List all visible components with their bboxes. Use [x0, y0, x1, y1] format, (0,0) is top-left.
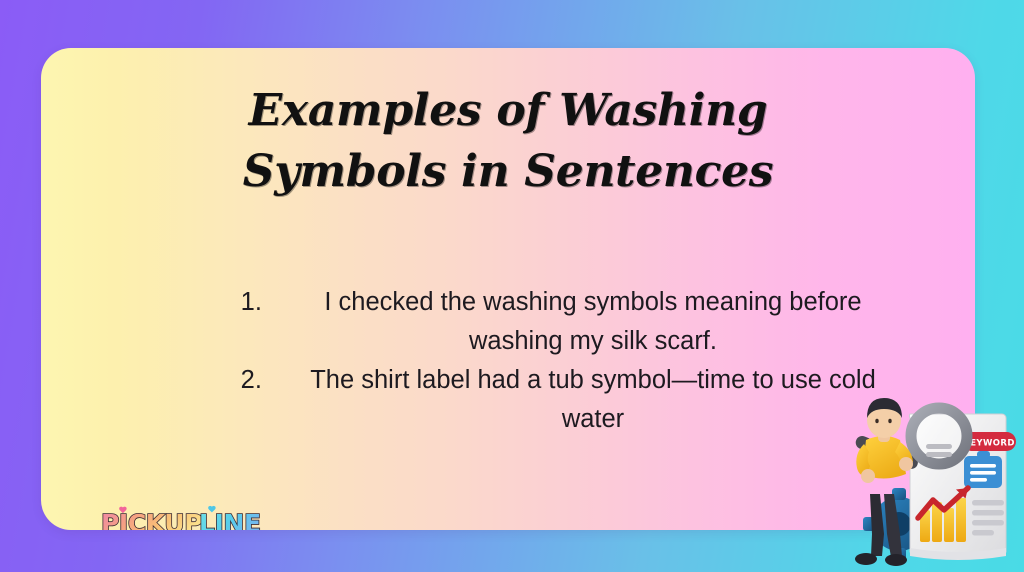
keyword-research-illustration: KEYWORD [840, 388, 1024, 572]
brand-logo[interactable]: PICKUP LINE FACT RY [99, 501, 265, 530]
examples-list: I checked the washing symbols meaning be… [237, 283, 909, 439]
slide-canvas: Examples of Washing Symbols in Sentences… [0, 0, 1024, 572]
list-item: The shirt label had a tub symbol—time to… [269, 361, 909, 439]
page-title-line-2: Symbols in Sentences [41, 141, 975, 202]
page-title-line-1: Examples of Washing [41, 80, 975, 141]
comment-box-icon [964, 451, 1002, 488]
list-item: I checked the washing symbols meaning be… [269, 283, 909, 361]
page-title: Examples of Washing Symbols in Sentences [41, 80, 975, 202]
content-card: Examples of Washing Symbols in Sentences… [41, 48, 975, 530]
logo-word-line: LINE [199, 509, 261, 530]
logo-word-pickup: PICKUP [101, 509, 202, 530]
